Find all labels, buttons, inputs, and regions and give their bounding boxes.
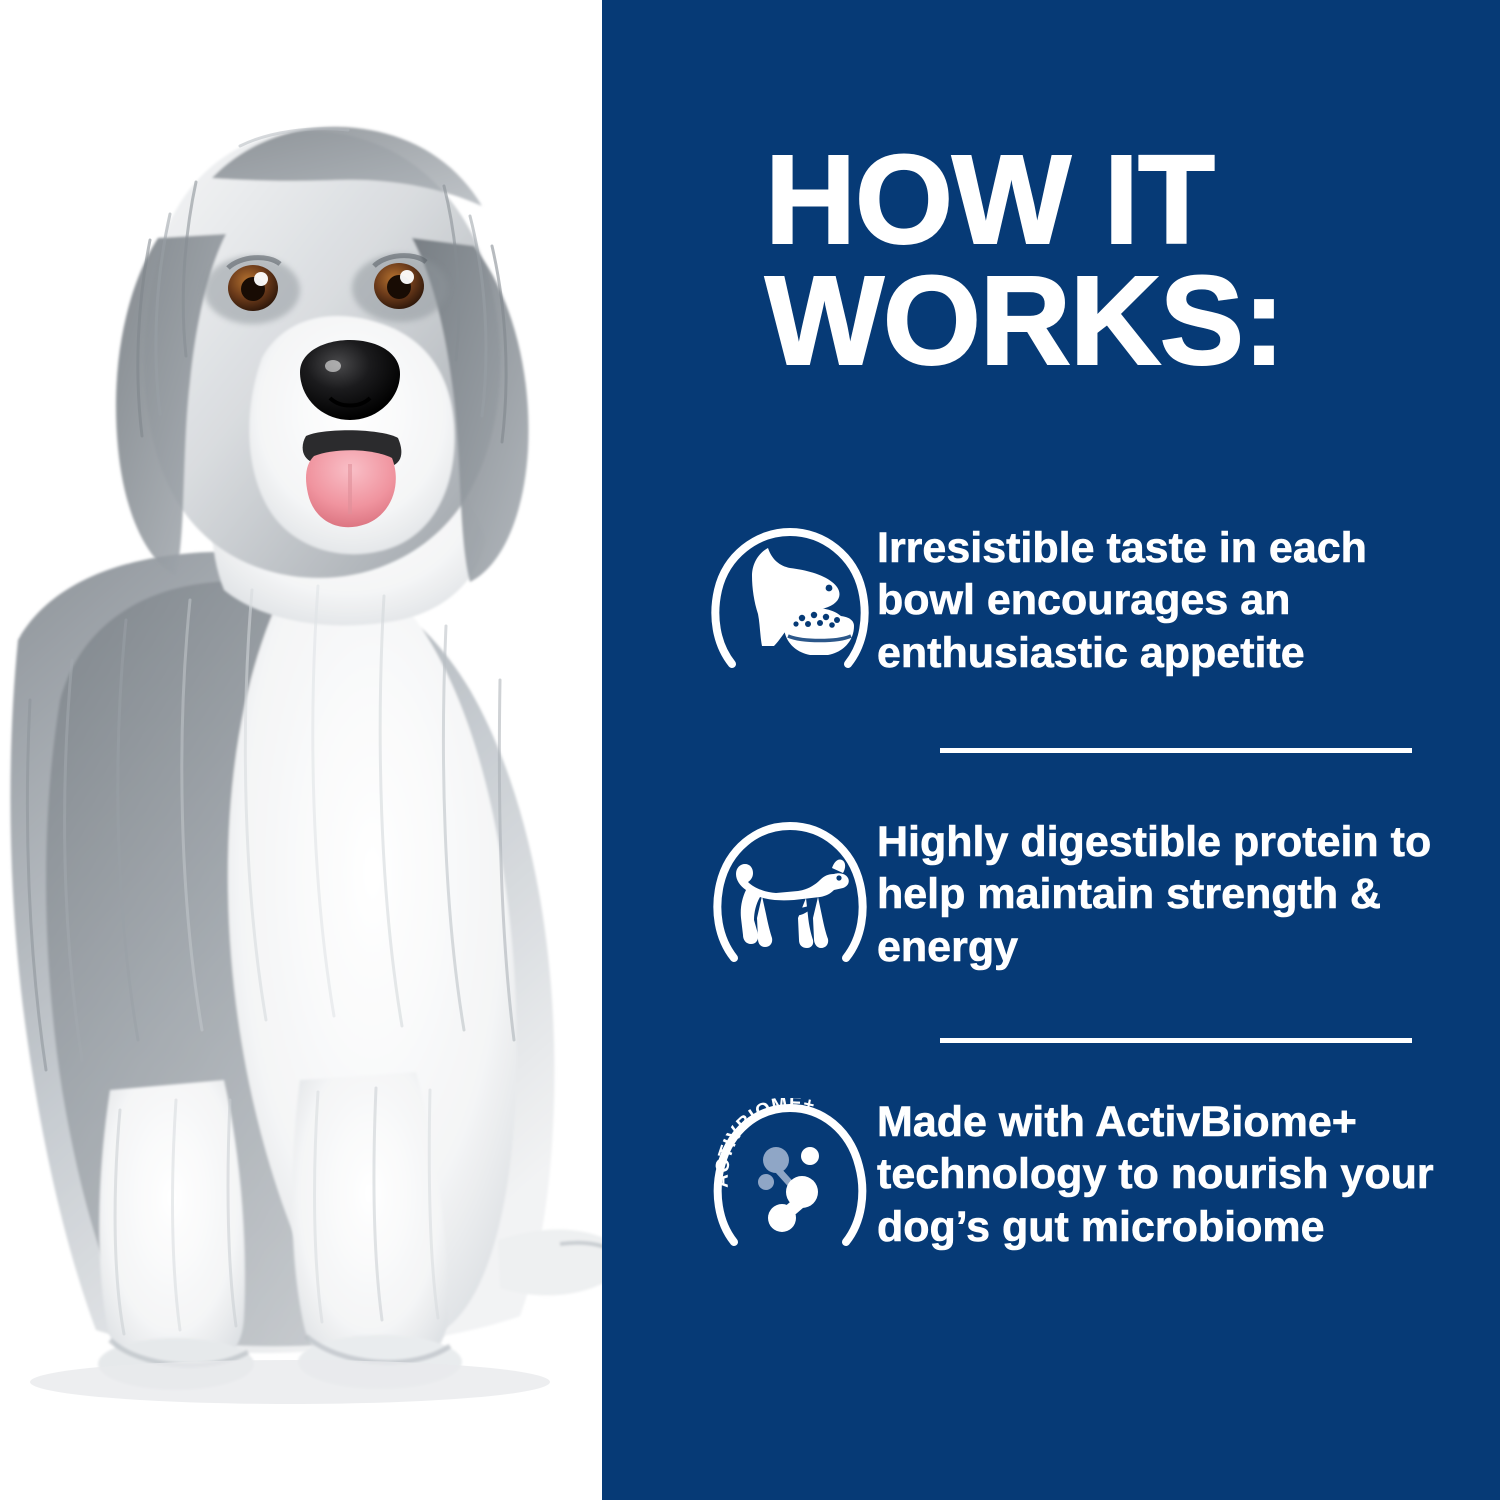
feature-text-activbiome: Made with ActivBiome+ technology to nour… bbox=[877, 1092, 1462, 1253]
headline-line-1: HOW IT bbox=[765, 140, 1485, 261]
dog-head-food-bowl-icon bbox=[702, 518, 877, 674]
page-title: HOW IT WORKS: bbox=[765, 140, 1485, 382]
activbiome-plus-icon: ACTIVBIOME+ bbox=[702, 1092, 877, 1253]
activbiome-plus-icon-svg: ACTIVBIOME+ bbox=[710, 1098, 870, 1253]
dog-photo-panel bbox=[0, 0, 602, 1500]
info-panel: HOW IT WORKS: bbox=[602, 0, 1500, 1500]
dog-photo bbox=[0, 0, 602, 1500]
divider-1 bbox=[940, 748, 1412, 753]
feature-item-taste: Irresistible taste in each bowl encourag… bbox=[702, 518, 1462, 679]
dog-head-food-bowl-icon-svg bbox=[710, 524, 870, 674]
feature-item-activbiome: ACTIVBIOME+ Made with ActivBiome+ techno… bbox=[702, 1092, 1462, 1253]
headline-line-2: WORKS: bbox=[765, 261, 1485, 382]
marketing-infographic: HOW IT WORKS: bbox=[0, 0, 1500, 1500]
standing-dog-icon-svg bbox=[710, 818, 870, 968]
molecule-cluster bbox=[758, 1147, 819, 1232]
divider-2 bbox=[940, 1038, 1412, 1043]
feature-item-protein: Highly digestible protein to help mainta… bbox=[702, 812, 1462, 973]
feature-text-taste: Irresistible taste in each bowl encourag… bbox=[877, 518, 1462, 679]
standing-dog-icon bbox=[702, 812, 877, 968]
feature-text-protein: Highly digestible protein to help mainta… bbox=[877, 812, 1462, 973]
